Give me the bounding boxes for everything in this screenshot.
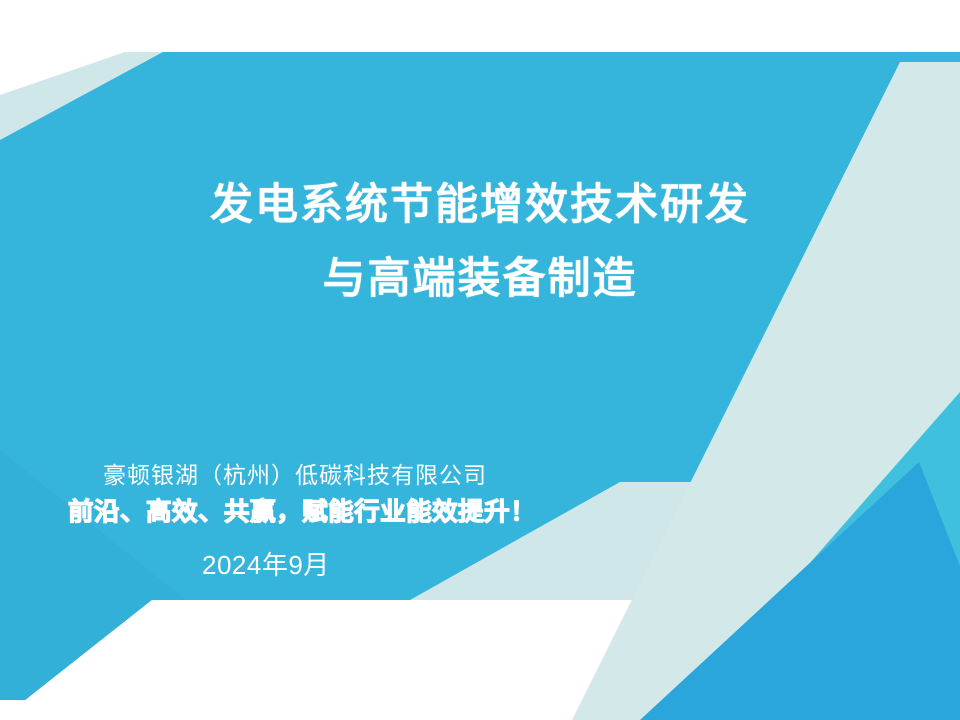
slide-content: 发电系统节能增效技术研发 与高端装备制造 豪顿银湖（杭州）低碳科技有限公司 前沿… xyxy=(0,0,960,720)
slide-subtitle-block: 豪顿银湖（杭州）低碳科技有限公司 前沿、高效、共赢，赋能行业能效提升！ 2024… xyxy=(0,458,960,586)
title-line-1: 发电系统节能增效技术研发 xyxy=(0,168,960,242)
date-text: 2024年9月 xyxy=(202,544,960,586)
slide-title: 发电系统节能增效技术研发 与高端装备制造 xyxy=(0,168,960,316)
slogan-text: 前沿、高效、共赢，赋能行业能效提升！ xyxy=(68,492,960,532)
presentation-slide: 发电系统节能增效技术研发 与高端装备制造 豪顿银湖（杭州）低碳科技有限公司 前沿… xyxy=(0,0,960,720)
company-name: 豪顿银湖（杭州）低碳科技有限公司 xyxy=(103,458,960,492)
title-line-2: 与高端装备制造 xyxy=(0,242,960,316)
